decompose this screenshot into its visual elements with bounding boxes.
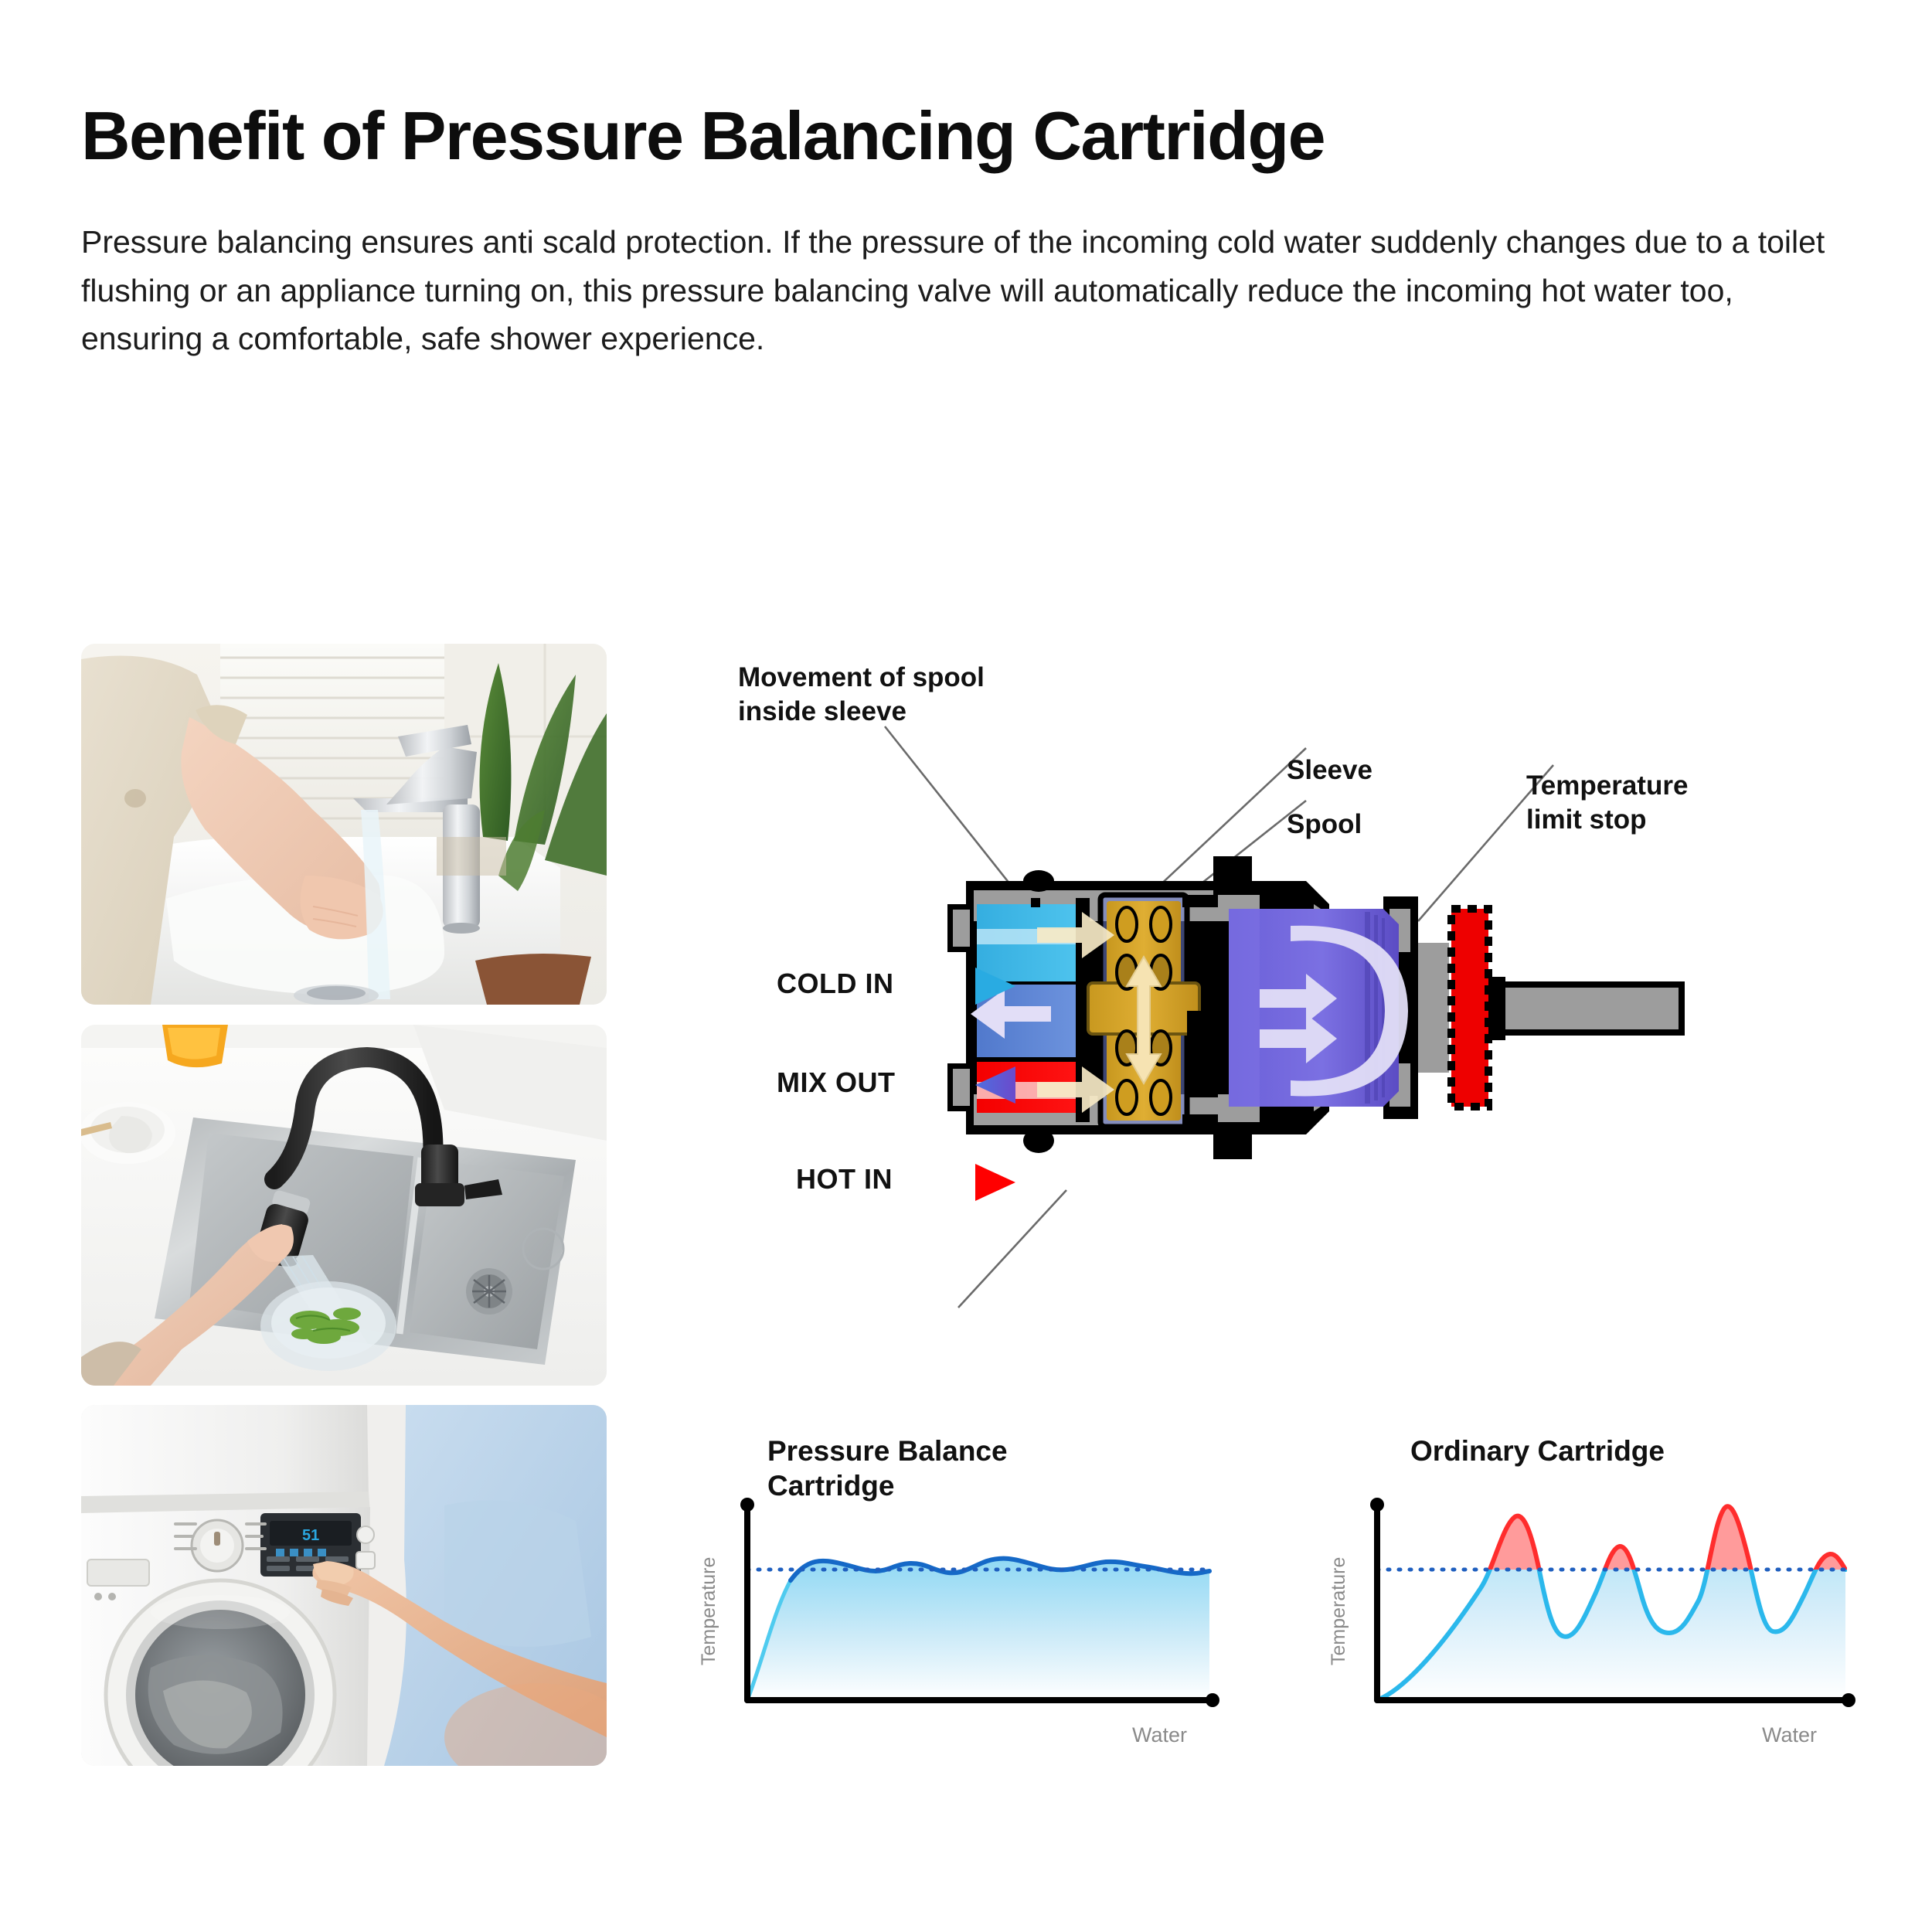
photo-handwash-bathroom-sink xyxy=(81,644,607,1005)
chart-ordinary-cartridge: Ordinary Cartridge Temperatur xyxy=(1329,1434,1870,1758)
page-title: Benefit of Pressure Balancing Cartridge xyxy=(81,100,1843,172)
svg-text:51: 51 xyxy=(302,1527,319,1544)
header: Benefit of Pressure Balancing Cartridge … xyxy=(81,100,1843,362)
intro-paragraph: Pressure balancing ensures anti scald pr… xyxy=(81,218,1835,362)
label-temperature-limit-stop: Temperature limit stop xyxy=(1526,769,1688,837)
chart-y-axis-label: Temperature xyxy=(698,1557,720,1665)
label-spool: Spool xyxy=(1287,808,1362,842)
chart-plot-area xyxy=(699,1434,1240,1758)
label-movement-of-spool: Movement of spool inside sleeve xyxy=(738,661,985,729)
port-label-hot-in: HOT IN xyxy=(796,1163,893,1196)
cold-in-arrow-icon xyxy=(972,964,1019,1008)
mix-out-arrow-icon xyxy=(972,1063,1019,1107)
chart-x-axis-label: Water xyxy=(1762,1723,1817,1747)
port-label-mix-out: MIX OUT xyxy=(777,1066,896,1099)
port-label-cold-in: COLD IN xyxy=(777,968,894,1000)
chart-x-axis-label: Water xyxy=(1132,1723,1187,1747)
label-sleeve: Sleeve xyxy=(1287,753,1372,787)
chart-plot-area xyxy=(1329,1434,1870,1758)
photo-kitchen-sink-pulldown-faucet xyxy=(81,1025,607,1386)
photo-washing-machine-controls: 51 xyxy=(81,1405,607,1766)
chart-y-axis-label: Temperature xyxy=(1328,1557,1350,1665)
hot-in-arrow-icon xyxy=(972,1161,1019,1204)
chart-pressure-balance-cartridge: Pressure Balance Cartridge Temperature W… xyxy=(699,1434,1240,1758)
